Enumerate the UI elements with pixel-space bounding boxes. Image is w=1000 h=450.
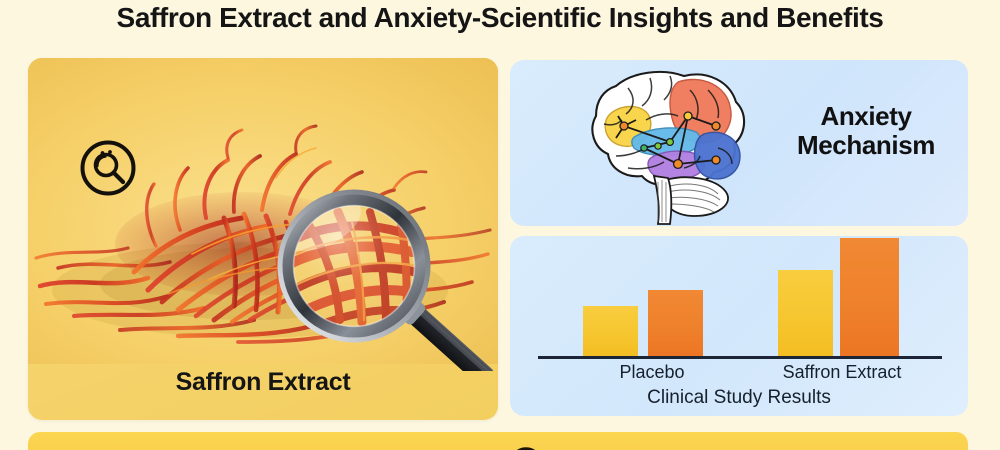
chart-category-label-saffron: Saffron Extract — [742, 362, 942, 383]
bar-chart — [510, 236, 968, 364]
magnifier-badge-icon — [78, 138, 138, 198]
saffron-extract-card: Saffron Extract — [28, 58, 498, 420]
bar-placebo-baseline — [583, 306, 638, 357]
bottom-strip-card — [28, 432, 968, 450]
bar-saffron-extract-baseline — [778, 270, 833, 357]
anxiety-title-line2: Mechanism — [797, 130, 935, 160]
partial-icon — [508, 446, 544, 450]
infographic-root: Saffron Extract and Anxiety-Scientific I… — [0, 0, 1000, 450]
chart-caption: Clinical Study Results — [510, 387, 968, 409]
bar-placebo-post-treatment — [648, 290, 703, 357]
bar-saffron-extract-post-treatment — [840, 238, 899, 357]
anxiety-mechanism-title: Anxiety Mechanism — [768, 102, 964, 160]
chart-category-label-placebo: Placebo — [572, 362, 732, 383]
page-title: Saffron Extract and Anxiety-Scientific I… — [0, 2, 1000, 34]
anxiety-mechanism-card: Anxiety Mechanism — [510, 60, 968, 226]
magnifying-glass-icon — [260, 186, 498, 371]
anxiety-title-line1: Anxiety — [820, 101, 911, 131]
brain-diagram-icon — [558, 64, 753, 226]
chart-baseline-axis — [538, 356, 942, 359]
saffron-extract-label: Saffron Extract — [28, 368, 498, 397]
